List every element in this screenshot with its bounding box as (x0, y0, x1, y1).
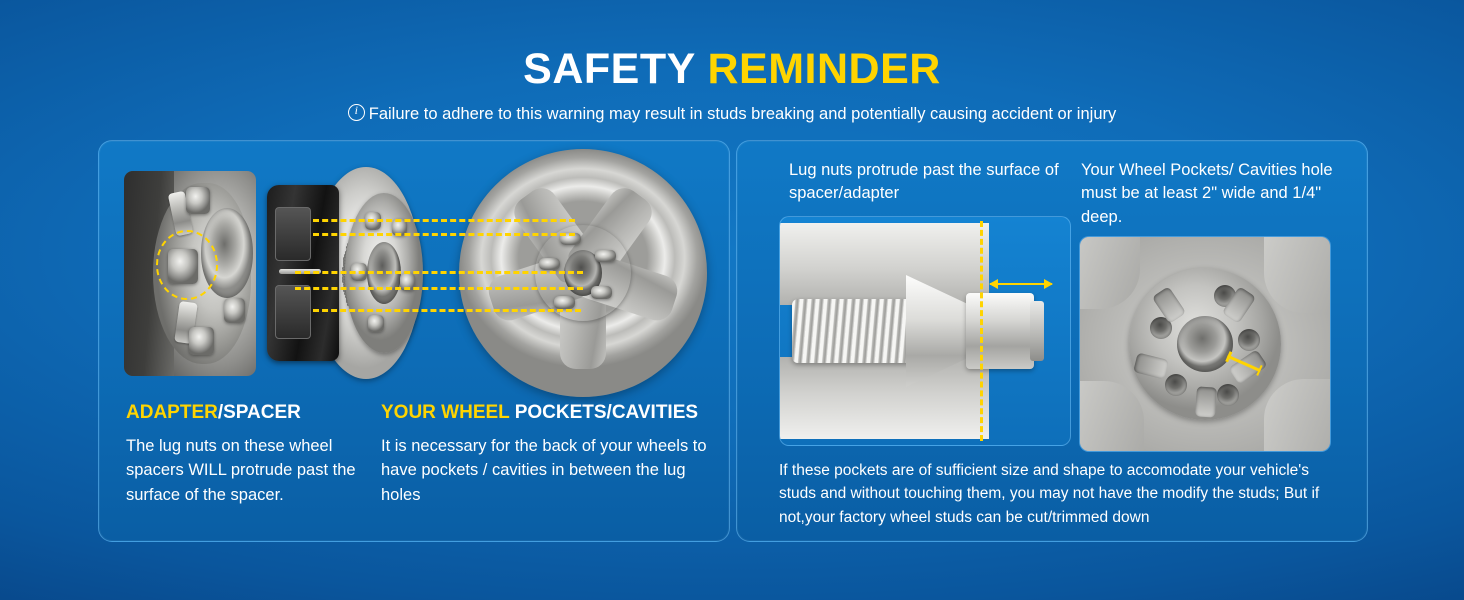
wheel-lug-hole (591, 286, 612, 298)
warning-subtitle-text: Failure to adhere to this warning may re… (369, 105, 1117, 123)
caliper-window (275, 207, 311, 261)
alignment-dash-line (313, 309, 581, 312)
caption-heading-rest: POCKETS/CAVITIES (509, 402, 698, 423)
lug-hole (1217, 384, 1239, 406)
caption-heading-rest: /SPACER (218, 402, 301, 423)
brake-rotor-assembly (267, 159, 427, 389)
alignment-dash-line (295, 271, 583, 274)
bolt-figure-label: Lug nuts protrude past the surface of sp… (789, 159, 1059, 206)
dashed-circle-highlight (156, 230, 218, 300)
protrusion-double-arrow (990, 283, 1052, 285)
left-panel: ADAPTER/SPACER The lug nuts on these whe… (98, 140, 730, 542)
caption-body: It is necessary for the back of your whe… (381, 434, 711, 507)
caption-your-wheel-pockets: YOUR WHEEL POCKETS/CAVITIES It is necess… (381, 403, 711, 507)
right-panel: Lug nuts protrude past the surface of sp… (736, 140, 1368, 542)
alignment-dash-line (313, 219, 575, 222)
page-title: SAFETY REMINDER (0, 0, 1464, 91)
alignment-dash-line (295, 287, 583, 290)
wheel-pocket-cavity (1195, 386, 1217, 417)
caption-heading-accent: ADAPTER (126, 402, 218, 423)
title-main: SAFETY (523, 45, 695, 93)
caption-body: The lug nuts on these wheel spacers WILL… (126, 434, 381, 507)
wheel-lug-hole (595, 250, 616, 262)
safety-reminder-graphic: SAFETY REMINDER Failure to adhere to thi… (0, 0, 1464, 600)
exploded-assembly-diagram (99, 141, 729, 411)
warning-subtitle: Failure to adhere to this warning may re… (0, 91, 1464, 125)
header: SAFETY REMINDER Failure to adhere to thi… (0, 0, 1464, 125)
caption-heading: YOUR WHEEL POCKETS/CAVITIES (381, 403, 711, 424)
caliper-window (275, 285, 311, 339)
pocket-figure-label: Your Wheel Pockets/ Cavities hole must b… (1081, 159, 1356, 229)
bolt-threads (792, 299, 916, 363)
lug-nut (189, 327, 214, 356)
spacer-stud (368, 315, 384, 333)
lug-nut (224, 298, 245, 323)
wheel-lug-hole (539, 258, 560, 270)
wheel-pocket-cavity-measured (1229, 349, 1268, 385)
wheel-center-bore (1177, 316, 1233, 372)
wheel-pocket-photo (1079, 236, 1331, 452)
right-panel-footer-text: If these pockets are of sufficient size … (779, 459, 1339, 529)
protrusion-reference-dash-line (980, 221, 983, 441)
lug-hole (1165, 374, 1187, 396)
caption-heading: ADAPTER/SPACER (126, 403, 381, 424)
wheel-pocket-cavity (1133, 353, 1169, 380)
spacer-body-lower (780, 357, 989, 439)
alignment-dash-line (313, 233, 575, 236)
wheel-lug-hole (554, 296, 575, 308)
caption-heading-accent: YOUR WHEEL (381, 402, 509, 423)
caption-adapter-spacer: ADAPTER/SPACER The lug nuts on these whe… (126, 403, 381, 507)
lug-hole (1238, 329, 1260, 351)
spacer-on-hub-photo (124, 171, 256, 376)
wheel-mounting-plate (1129, 268, 1281, 420)
lug-bolt-cross-section-figure (779, 216, 1071, 446)
bolt-head-cap (1030, 301, 1044, 361)
lug-nut (186, 187, 210, 214)
bolt-hex-head (966, 293, 1034, 369)
title-accent: REMINDER (707, 45, 940, 93)
info-circle-icon (348, 104, 365, 121)
spacer-body-upper (780, 223, 989, 305)
